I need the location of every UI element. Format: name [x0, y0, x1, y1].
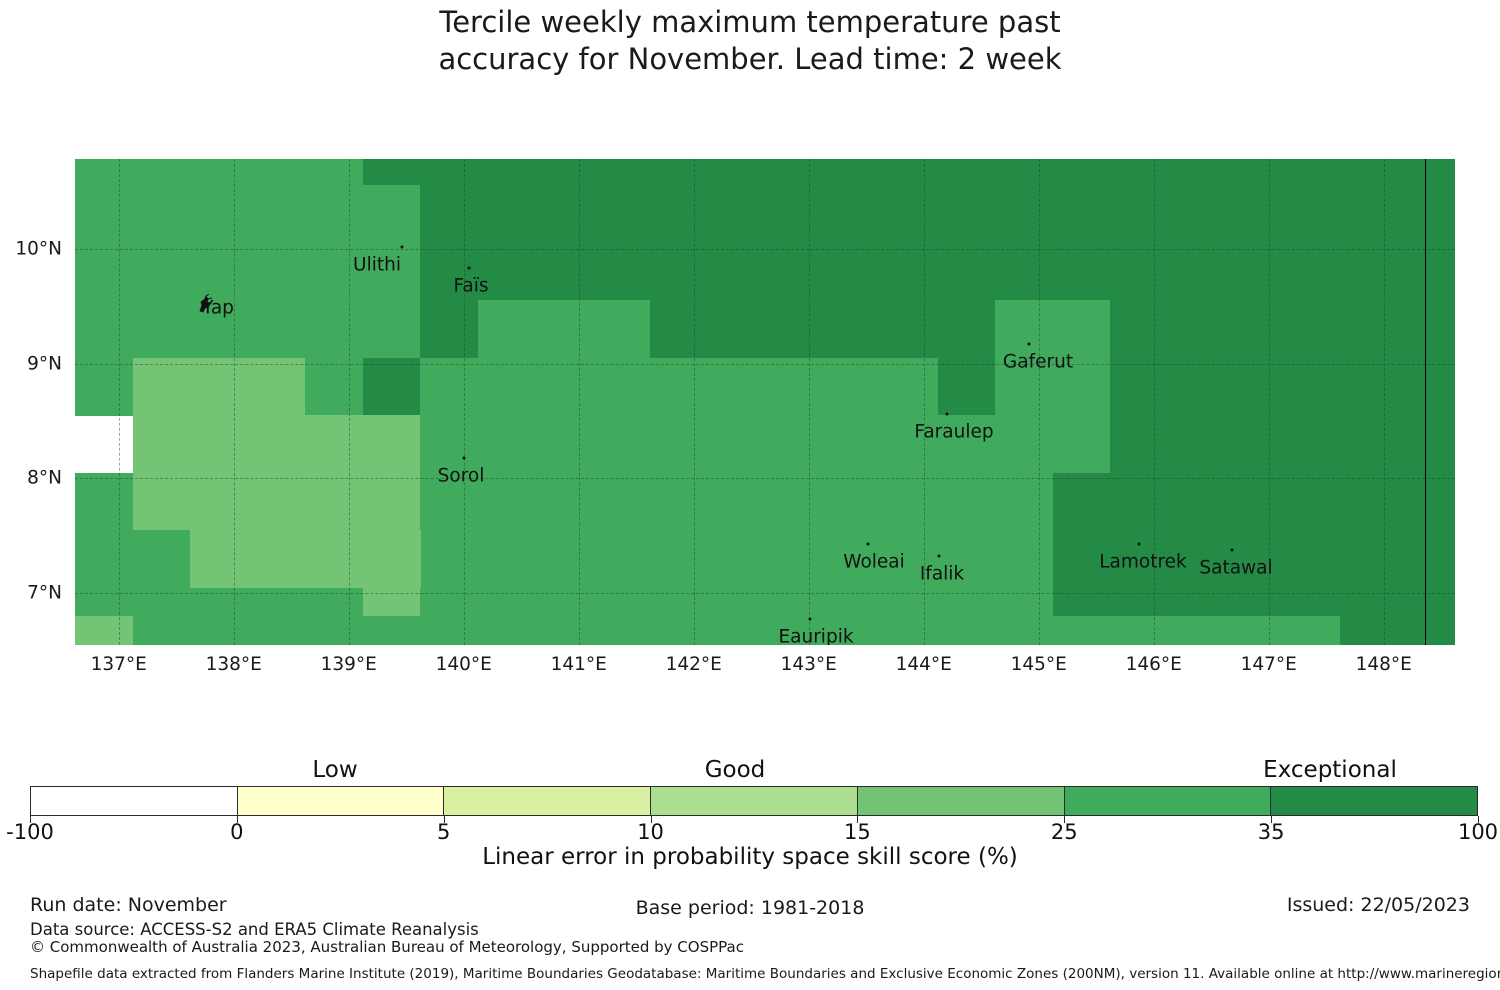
x-axis-tick-label: 143°E [781, 654, 837, 675]
colorbar-segment [858, 787, 1065, 815]
heatmap-cell [75, 159, 363, 358]
colorbar-label: Linear error in probability space skill … [0, 844, 1500, 870]
x-axis-tick-label: 138°E [206, 654, 262, 675]
island-marker-ifalik [938, 555, 941, 558]
heatmap-cell [363, 588, 421, 617]
colorbar-tick-label: 35 [1258, 820, 1285, 844]
x-axis-tick-label: 144°E [896, 654, 952, 675]
footer-copyright: © Commonwealth of Australia 2023, Austra… [30, 938, 744, 956]
colorbar [30, 786, 1478, 816]
heatmap-cell [420, 588, 1053, 617]
island-marker-ulithi [401, 246, 404, 249]
heatmap-cell [1110, 300, 1455, 358]
y-axis-tick-label: 9°N [27, 353, 62, 374]
y-axis-tick-label: 8°N [27, 468, 62, 489]
colorbar-tick-mark [444, 816, 445, 823]
colorbar-tick-mark [1271, 816, 1272, 823]
colorbar-tick-label: 0 [230, 820, 243, 844]
heatmap-cell [1340, 616, 1455, 645]
x-axis-tick-label: 146°E [1126, 654, 1182, 675]
colorbar-tick-mark [857, 816, 858, 823]
heatmap-cell [420, 159, 1455, 301]
heatmap-cell [420, 616, 1053, 645]
island-marker-faraulep [946, 413, 949, 416]
heatmap-cell [1053, 588, 1456, 617]
heatmap-cell [75, 616, 133, 645]
heatmap-cell [75, 358, 133, 416]
footer-issued-date: Issued: 22/05/2023 [1287, 894, 1470, 916]
colorbar-segment [31, 787, 238, 815]
island-marker-yap [193, 291, 219, 321]
heatmap-cell [248, 415, 421, 473]
colorbar-tick-label: 25 [1051, 820, 1078, 844]
colorbar-quality-label: Exceptional [1263, 757, 1397, 783]
x-axis-tick-label: 148°E [1356, 654, 1412, 675]
heatmap-cell [363, 358, 421, 416]
heatmap-cell [1110, 358, 1455, 473]
place-label-sorol: Sorol [438, 466, 485, 487]
heatmap-cell [995, 358, 1111, 473]
heatmap-cell [305, 358, 363, 416]
colorbar-quality-label: Good [705, 757, 766, 783]
map-panel: YapUlithiFaïsGaferutFaraulepSorolWoleaiI… [75, 159, 1455, 645]
heatmap-cell [478, 300, 651, 358]
page-title: Tercile weekly maximum temperature past … [0, 4, 1500, 78]
island-marker-sorol [463, 457, 466, 460]
heatmap-cell [363, 159, 421, 186]
heatmap-cell [363, 530, 421, 588]
footer-base-period: Base period: 1981-2018 [0, 897, 1500, 919]
place-label-ulithi: Ulithi [353, 255, 401, 276]
heatmap-cell [190, 530, 363, 588]
colorbar-tick-label: -100 [6, 820, 54, 844]
place-label-lamotrek: Lamotrek [1099, 552, 1187, 573]
colorbar-segment [1271, 787, 1477, 815]
x-axis-tick-label: 142°E [666, 654, 722, 675]
place-label-fas: Faïs [453, 276, 488, 297]
map-heatmap: YapUlithiFaïsGaferutFaraulepSorolWoleaiI… [75, 159, 1455, 645]
footer-shapefile-attribution: Shapefile data extracted from Flanders M… [30, 966, 1500, 982]
island-marker-woleai [867, 543, 870, 546]
place-label-gaferut: Gaferut [1003, 352, 1073, 373]
colorbar-segment [651, 787, 858, 815]
heatmap-cell [938, 358, 996, 416]
footer-data-source: Data source: ACCESS-S2 and ERA5 Climate … [30, 920, 479, 939]
heatmap-cell [133, 473, 421, 531]
island-marker-lamotrek [1138, 543, 1141, 546]
heatmap-cell [133, 616, 421, 645]
heatmap-cell [420, 358, 938, 416]
colorbar-tick-mark [651, 816, 652, 823]
colorbar-tick-mark [237, 816, 238, 823]
place-label-faraulep: Faraulep [914, 422, 993, 443]
heatmap-cell [248, 358, 306, 416]
heatmap-cell [75, 473, 133, 531]
colorbar-segment [238, 787, 445, 815]
heatmap-cell [420, 300, 478, 358]
colorbar-segment [444, 787, 651, 815]
island-marker-eauripik [809, 618, 812, 621]
x-axis-tick-label: 147°E [1241, 654, 1297, 675]
place-label-eauripik: Eauripik [778, 627, 853, 646]
x-axis-tick-label: 139°E [321, 654, 377, 675]
x-axis-tick-label: 140°E [436, 654, 492, 675]
colorbar-tick-label: 5 [437, 820, 450, 844]
island-marker-satawal [1231, 549, 1234, 552]
x-axis-tick-label: 145°E [1011, 654, 1067, 675]
heatmap-cell [75, 588, 363, 617]
island-marker-fas [468, 267, 471, 270]
heatmap-cell [1053, 616, 1341, 645]
colorbar-quality-label: Low [312, 757, 357, 783]
colorbar-tick-mark [1478, 816, 1479, 823]
colorbar-segment [1065, 787, 1272, 815]
place-label-ifalik: Ifalik [920, 564, 964, 585]
place-label-satawal: Satawal [1199, 558, 1272, 579]
y-axis-tick-label: 10°N [15, 238, 62, 259]
island-marker-gaferut [1028, 343, 1031, 346]
colorbar-tick-label: 100 [1458, 820, 1498, 844]
place-label-woleai: Woleai [843, 552, 905, 573]
heatmap-cell [420, 415, 996, 473]
x-axis-tick-label: 141°E [551, 654, 607, 675]
heatmap-cell [650, 300, 996, 358]
colorbar-tick-label: 10 [637, 820, 664, 844]
heatmap-cell [995, 300, 1111, 358]
heatmap-cell [133, 358, 249, 473]
x-axis-tick-label: 137°E [91, 654, 147, 675]
colorbar-tick-label: 15 [844, 820, 871, 844]
eez-boundary-line [1425, 159, 1426, 645]
y-axis-tick-label: 7°N [27, 583, 62, 604]
colorbar-tick-mark [30, 816, 31, 823]
heatmap-cell [75, 530, 191, 588]
colorbar-tick-mark [1064, 816, 1065, 823]
